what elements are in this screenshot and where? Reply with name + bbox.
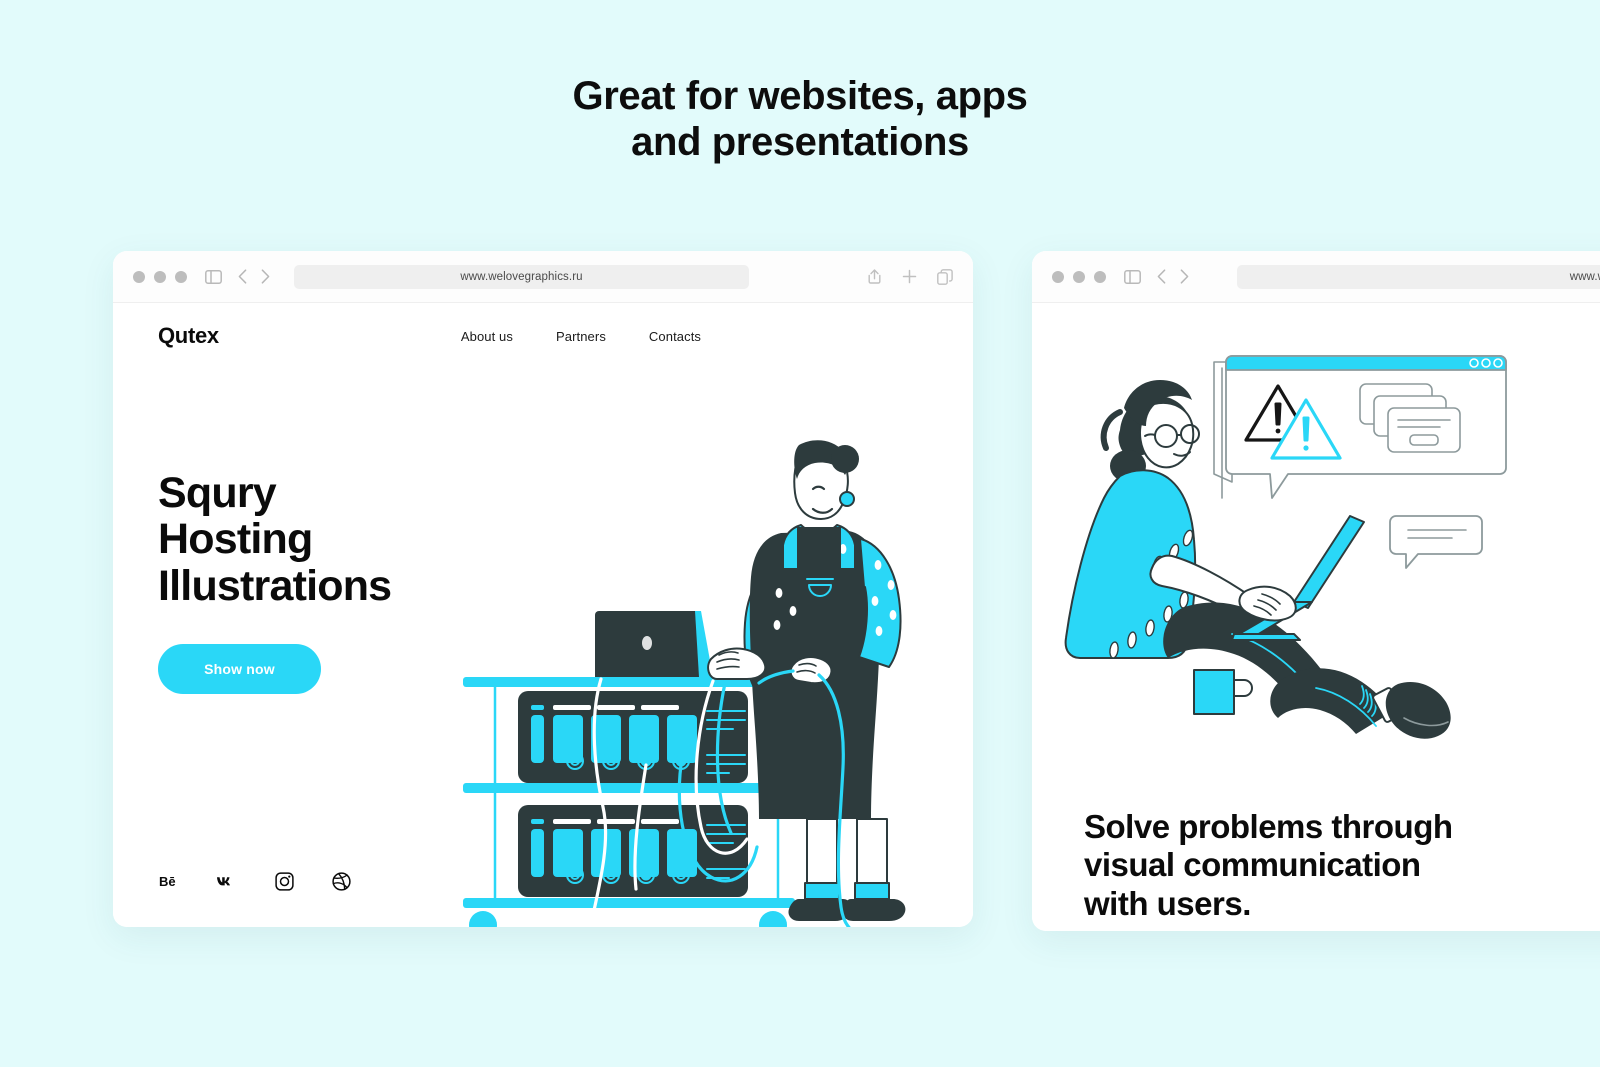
hero-title-line-3: Illustrations [158, 563, 458, 609]
right-headline-line-1: Solve problems through [1084, 808, 1600, 846]
address-bar-url: www.welovegraphics.ru [460, 271, 582, 283]
right-headline: Solve problems through visual communicat… [1084, 808, 1600, 923]
svg-text:Bē: Bē [159, 874, 176, 889]
chrome-right-actions [867, 268, 953, 285]
browser-chrome-left: www.welovegraphics.ru [113, 251, 973, 303]
site-navigation: Qutex About us Partners Contacts [158, 323, 928, 349]
share-icon[interactable] [867, 268, 882, 285]
promo-heading-line-1: Great for websites, apps [0, 74, 1600, 120]
nav-link-about-us[interactable]: About us [461, 329, 513, 344]
right-headline-line-3: with users. [1084, 885, 1600, 923]
page-content-right: Solve problems through visual communicat… [1032, 303, 1600, 931]
chevron-right-icon[interactable] [261, 269, 270, 284]
browser-chrome-right: www.welovegraphics.ru [1032, 251, 1600, 303]
close-window-button[interactable] [133, 271, 145, 283]
nav-arrows[interactable] [1157, 269, 1189, 284]
hero-title-line-2: Hosting [158, 516, 458, 562]
address-bar-url: www.welovegraphics.ru [1570, 271, 1600, 283]
traffic-light-buttons[interactable] [133, 271, 187, 283]
visual-communication-illustration [1062, 338, 1582, 738]
chevron-right-icon[interactable] [1180, 269, 1189, 284]
hero-title-line-1: Squry [158, 470, 458, 516]
social-links: Bē [160, 871, 351, 891]
copy-tabs-icon[interactable] [937, 269, 953, 285]
site-logo[interactable]: Qutex [158, 323, 219, 349]
right-headline-line-2: visual communication [1084, 846, 1600, 884]
browser-window-left: www.welovegraphics.ru [113, 251, 973, 927]
chevron-left-icon[interactable] [1157, 269, 1166, 284]
minimize-window-button[interactable] [154, 271, 166, 283]
dribbble-icon[interactable] [331, 871, 351, 891]
page-content-left: Qutex About us Partners Contacts Squry H… [113, 303, 973, 927]
sidebar-icon[interactable] [205, 270, 222, 284]
plus-icon[interactable] [902, 269, 917, 284]
close-window-button[interactable] [1052, 271, 1064, 283]
nav-link-partners[interactable]: Partners [556, 329, 606, 344]
chevron-left-icon[interactable] [238, 269, 247, 284]
hero-title: Squry Hosting Illustrations [158, 470, 458, 609]
nav-links: About us Partners Contacts [461, 329, 701, 344]
zoom-window-button[interactable] [175, 271, 187, 283]
instagram-icon[interactable] [274, 871, 294, 891]
zoom-window-button[interactable] [1094, 271, 1106, 283]
right-headline-copy: Solve problems through visual communicat… [1084, 808, 1600, 923]
show-now-button[interactable]: Show now [158, 644, 321, 694]
promo-heading-line-2: and presentations [0, 120, 1600, 166]
vk-icon[interactable] [217, 871, 237, 891]
behance-icon[interactable]: Bē [160, 871, 180, 891]
nav-link-contacts[interactable]: Contacts [649, 329, 701, 344]
nav-arrows[interactable] [238, 269, 270, 284]
address-bar[interactable]: www.welovegraphics.ru [294, 265, 749, 289]
browser-window-right: www.welovegraphics.ru [1032, 251, 1600, 931]
hero-copy: Squry Hosting Illustrations Show now [158, 470, 458, 694]
traffic-light-buttons[interactable] [1052, 271, 1106, 283]
promo-heading: Great for websites, apps and presentatio… [0, 74, 1600, 165]
address-bar[interactable]: www.welovegraphics.ru [1237, 265, 1600, 289]
hosting-server-rack-illustration [463, 443, 933, 927]
minimize-window-button[interactable] [1073, 271, 1085, 283]
sidebar-icon[interactable] [1124, 270, 1141, 284]
